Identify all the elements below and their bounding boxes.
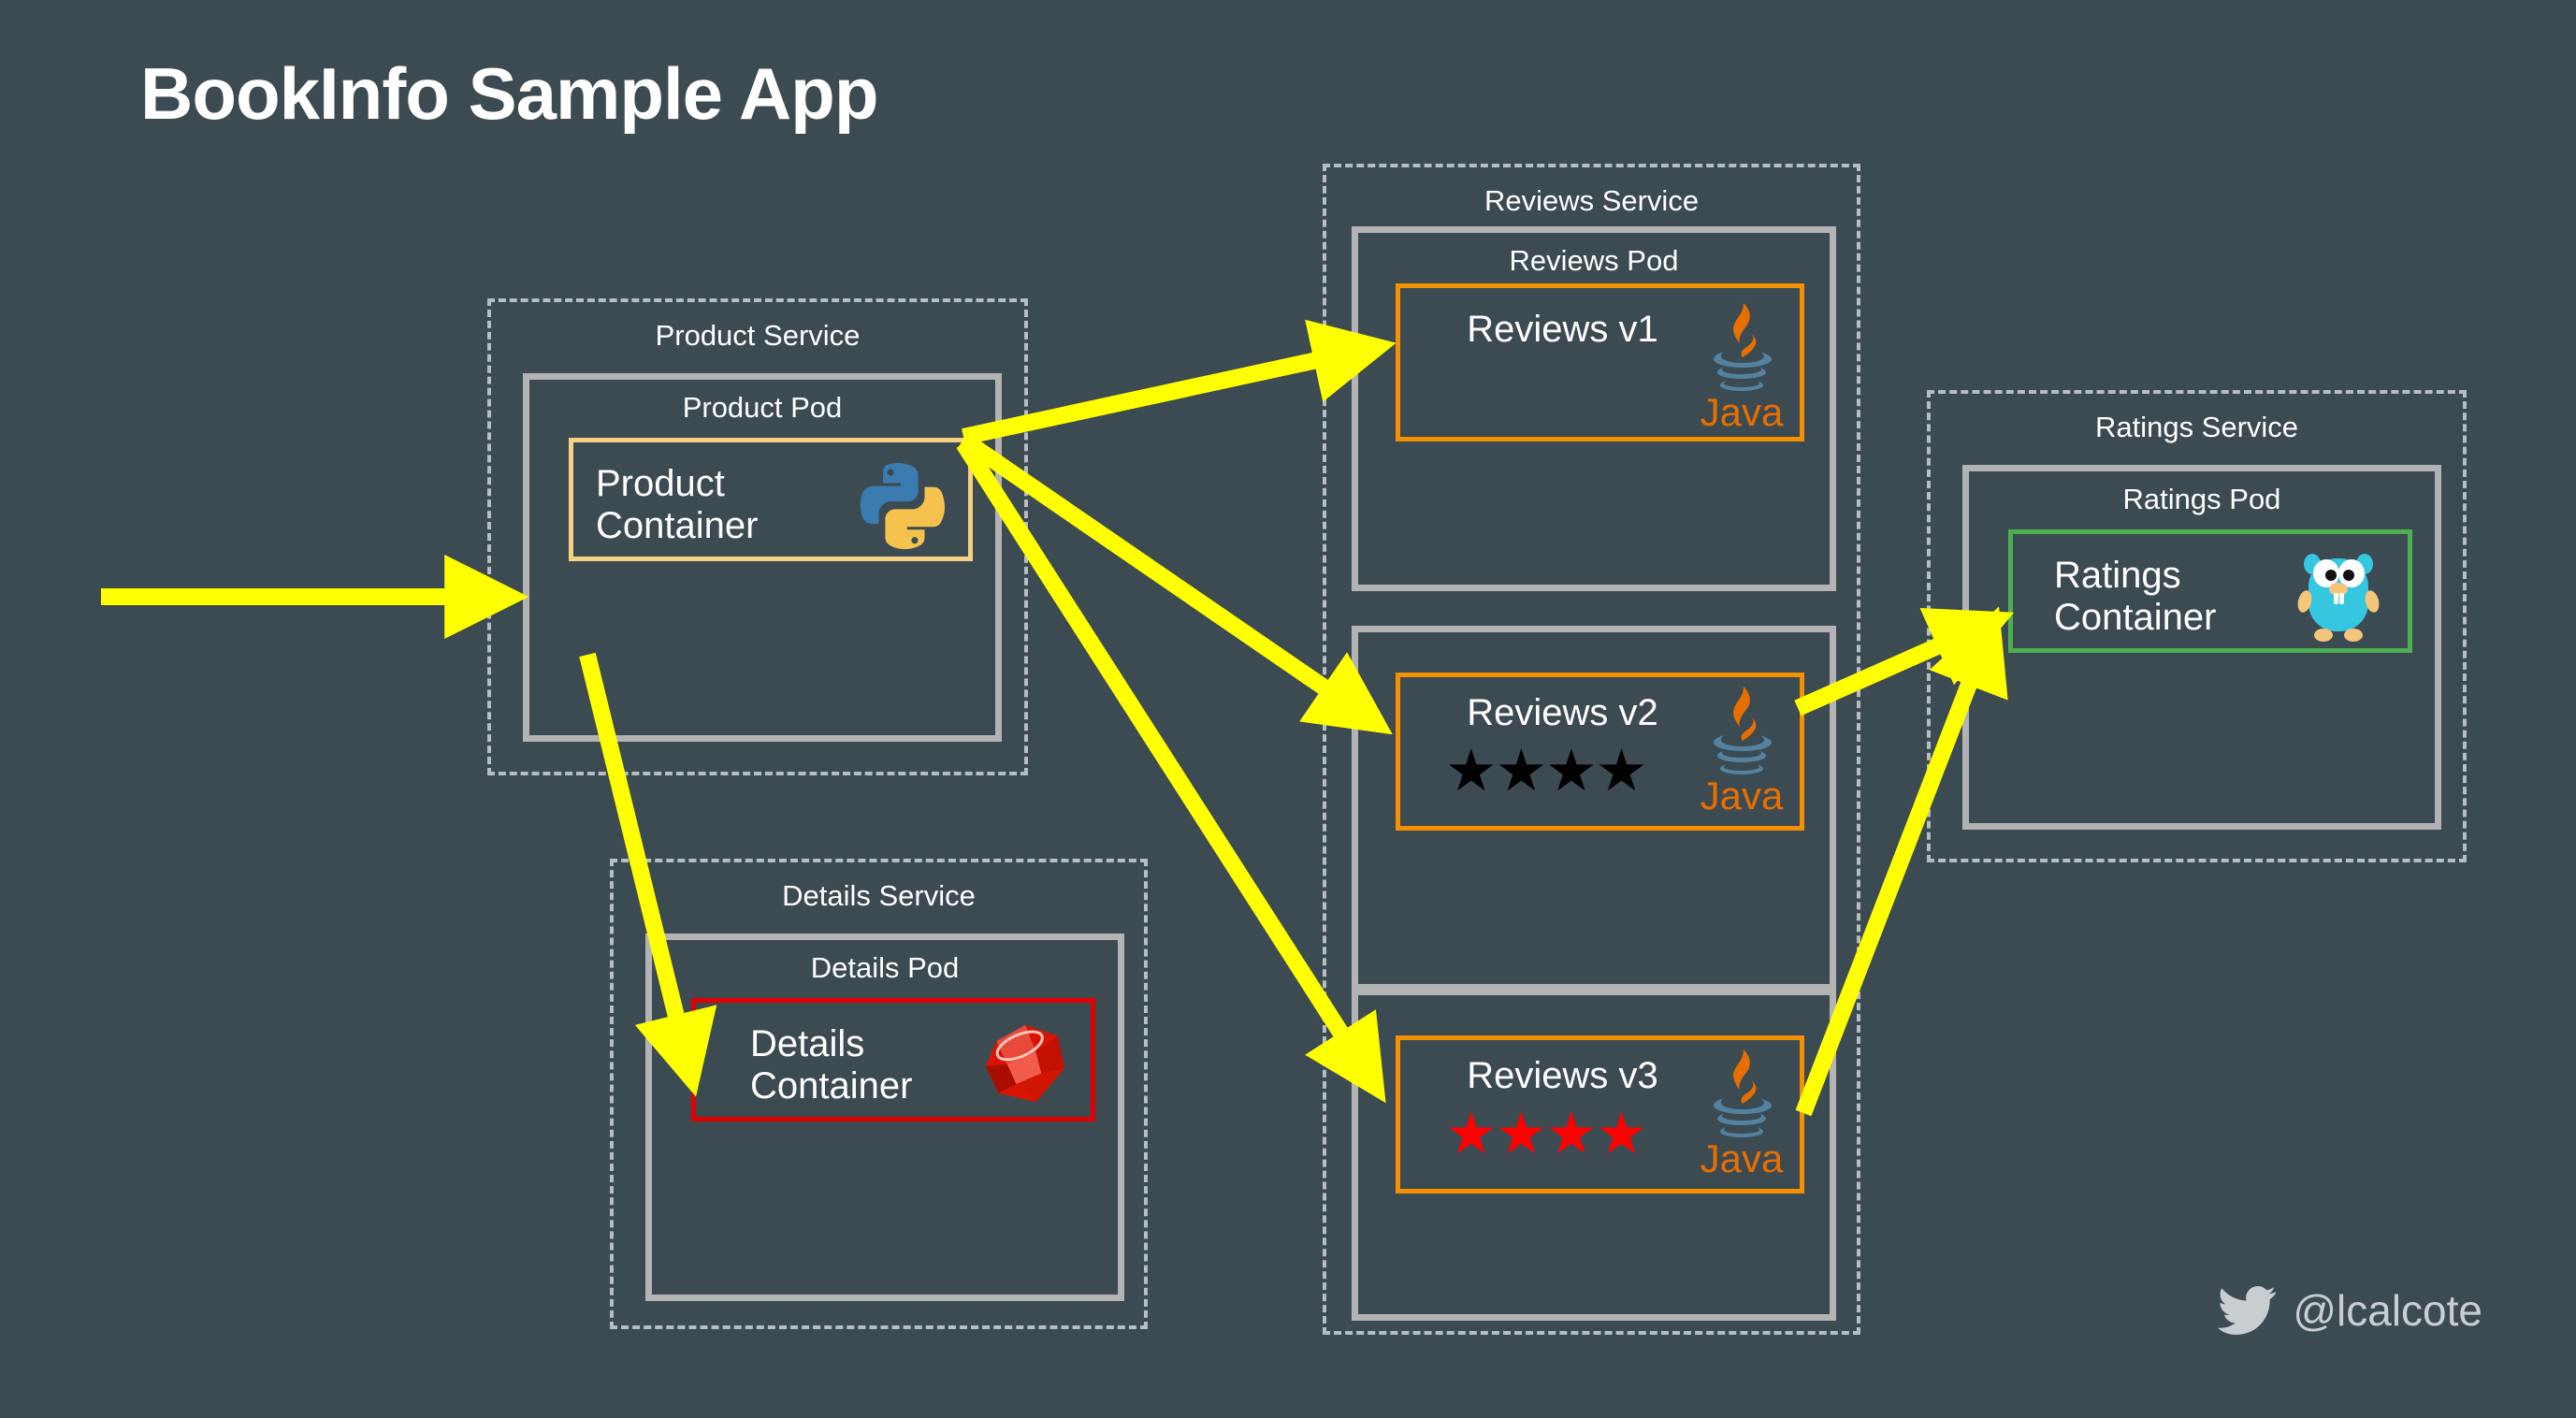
pod-product: Product Pod Product Container xyxy=(523,373,1002,742)
java-logo-text: Java xyxy=(1700,774,1784,816)
pod-reviews-v1-label: Reviews Pod xyxy=(1358,244,1830,278)
python-logo xyxy=(854,457,948,551)
service-ratings: Ratings Service Ratings Pod Ratings Cont… xyxy=(1927,390,2467,862)
pod-product-label: Product Pod xyxy=(529,391,995,425)
java-logo: Java xyxy=(1699,685,1785,816)
service-details: Details Service Details Pod Details Cont… xyxy=(610,859,1148,1329)
page-title: BookInfo Sample App xyxy=(140,51,877,137)
pod-ratings: Ratings Pod Ratings Container xyxy=(1962,465,2441,830)
pod-ratings-label: Ratings Pod xyxy=(1969,483,2435,516)
twitter-bird-icon xyxy=(2218,1286,2276,1335)
container-reviews-v1[interactable]: Reviews v1 Java xyxy=(1396,283,1804,441)
java-logo: Java xyxy=(1699,301,1785,432)
twitter-handle-text: @lcalcote xyxy=(2293,1285,2482,1336)
twitter-handle[interactable]: @lcalcote xyxy=(2218,1285,2482,1336)
pod-details: Details Pod Details Container xyxy=(645,933,1124,1301)
diagram-canvas: BookInfo Sample App Product Service Prod… xyxy=(0,0,2576,1418)
service-reviews-label: Reviews Service xyxy=(1326,184,1857,218)
container-details-label: Details Container xyxy=(750,1023,912,1107)
java-logo-text: Java xyxy=(1700,390,1784,432)
service-product: Product Service Product Pod Product Cont… xyxy=(487,298,1028,775)
container-ratings-label: Ratings Container xyxy=(2054,555,2216,639)
ruby-logo xyxy=(980,1021,1070,1107)
service-details-label: Details Service xyxy=(614,879,1144,913)
java-logo: Java xyxy=(1699,1048,1785,1179)
container-reviews-v3[interactable]: Reviews v3 ★★★★ Java xyxy=(1396,1035,1804,1194)
container-reviews-v2[interactable]: Reviews v2 ★★★★ Java xyxy=(1396,673,1804,831)
container-product[interactable]: Product Container xyxy=(569,438,973,561)
container-product-label: Product Container xyxy=(596,463,758,547)
pod-details-label: Details Pod xyxy=(652,951,1118,985)
go-gopher-logo xyxy=(2295,540,2381,652)
rating-stars-v3: ★★★★ xyxy=(1445,1106,1645,1164)
pod-reviews-v3: Reviews v3 ★★★★ Java xyxy=(1352,989,1836,1321)
rating-stars-v2: ★★★★ xyxy=(1445,743,1645,801)
service-product-label: Product Service xyxy=(491,319,1024,353)
pod-reviews-v2: Reviews v2 ★★★★ Java xyxy=(1352,626,1836,991)
service-reviews: Reviews Service Reviews Pod Reviews v1 J… xyxy=(1323,164,1860,1335)
java-logo-text: Java xyxy=(1700,1136,1784,1179)
container-ratings[interactable]: Ratings Container xyxy=(2008,529,2412,653)
container-details[interactable]: Details Container xyxy=(691,998,1095,1121)
pod-reviews-v1: Reviews Pod Reviews v1 Java xyxy=(1352,226,1836,591)
service-ratings-label: Ratings Service xyxy=(1931,411,2463,444)
